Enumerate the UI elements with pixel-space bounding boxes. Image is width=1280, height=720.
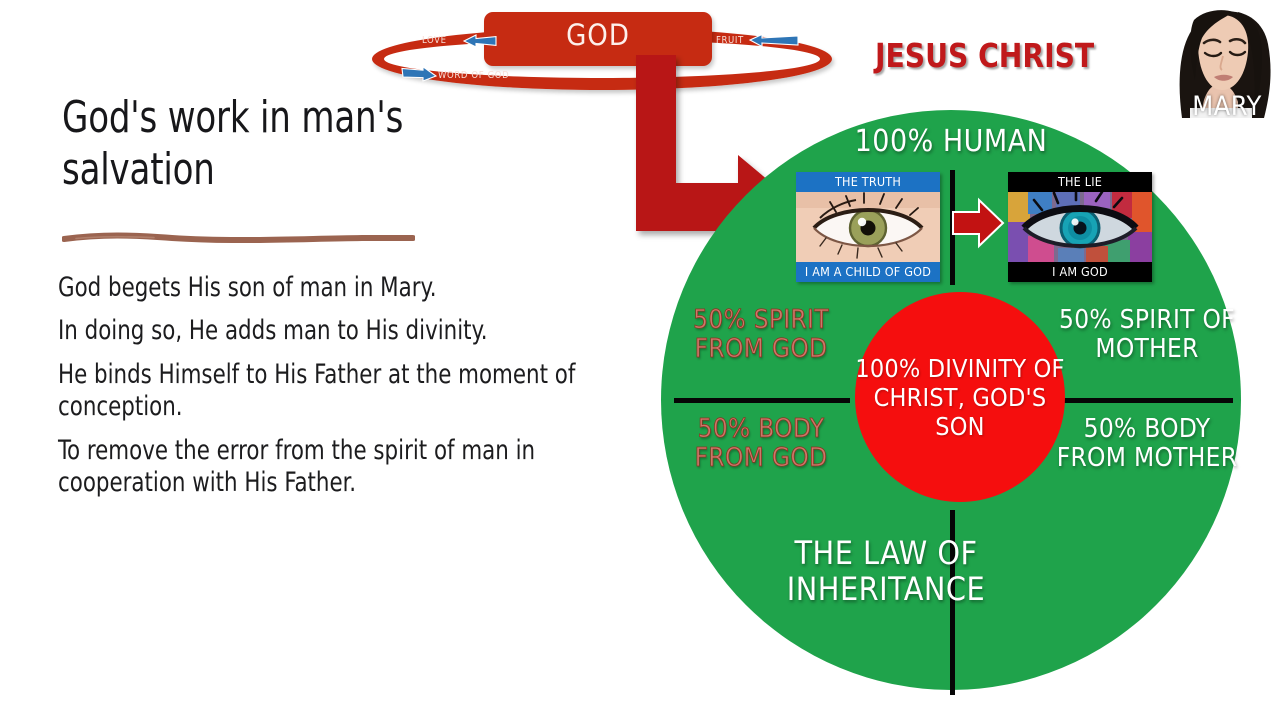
bullet-list: God begets His son of man in Mary. In do… (58, 272, 586, 510)
card-lie-caption: I AM GOD (1008, 262, 1152, 282)
eye-image-truth (796, 192, 940, 262)
card-truth-caption: I AM A CHILD OF GOD (796, 262, 940, 282)
list-item: He binds Himself to His Father at the mo… (58, 359, 586, 424)
jesus-christ-heading: JESUS CHRIST (875, 36, 1094, 75)
divider-horizontal-left (674, 398, 850, 403)
blue-arrow-left-love-icon (450, 33, 498, 49)
divinity-core-circle: 100% DIVINITY OF CHRIST, GOD'S SON (855, 292, 1065, 502)
eye-image-lie (1008, 192, 1152, 262)
mary-photo: MARY (1164, 4, 1280, 118)
blue-arrow-right-word-icon (392, 64, 440, 82)
god-plate-label: GOD (484, 18, 712, 52)
label-spirit-from-god: 50% SPIRIT FROM GOD (671, 306, 851, 363)
divider-horizontal-right (1061, 398, 1233, 403)
label-body-from-god: 50% BODY FROM GOD (671, 415, 851, 472)
mary-label: MARY (1174, 91, 1280, 118)
card-the-truth: THE TRUTH (796, 172, 940, 282)
mini-red-arrow-icon (949, 194, 1007, 252)
card-truth-title: THE TRUTH (796, 172, 940, 192)
label-spirit-of-mother: 50% SPIRIT OF MOTHER (1056, 306, 1238, 363)
card-the-lie: THE LIE (1008, 172, 1152, 282)
label-100-percent-human: 100% HUMAN (661, 124, 1241, 159)
ring-word-love: LOVE (422, 35, 447, 46)
list-item: In doing so, He adds man to His divinity… (58, 315, 586, 347)
label-law-of-inheritance: THE LAW OF INHERITANCE (721, 535, 1051, 607)
ring-word-word-of-god: WORD OF GOD (438, 70, 509, 81)
inheritance-diagram: 100% HUMAN THE TRUTH (661, 110, 1241, 690)
list-item: To remove the error from the spirit of m… (58, 435, 586, 500)
label-body-from-mother: 50% BODY FROM MOTHER (1056, 415, 1238, 472)
blue-arrow-left-fruit-icon (746, 33, 800, 49)
list-item: God begets His son of man in Mary. (58, 272, 586, 304)
title-underline-rule (62, 232, 415, 243)
ring-word-fruit: FRUIT (716, 35, 744, 46)
page-title: God's work in man's salvation (62, 92, 509, 196)
card-lie-title: THE LIE (1008, 172, 1152, 192)
divinity-core-label: 100% DIVINITY OF CHRIST, GOD'S SON (855, 354, 1065, 441)
slide-canvas: God's work in man's salvation God begets… (0, 0, 1280, 720)
